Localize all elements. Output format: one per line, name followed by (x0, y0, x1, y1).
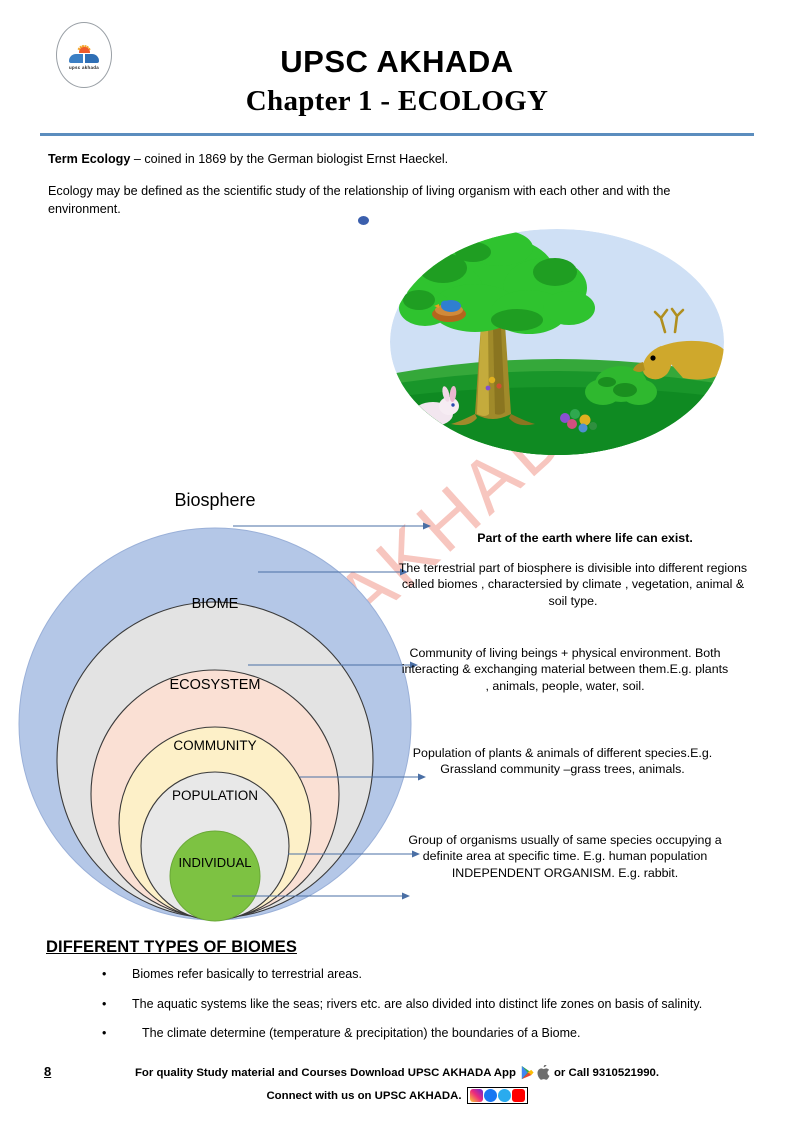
store-badges[interactable] (520, 1065, 550, 1080)
footer-line-1: For quality Study material and Courses D… (0, 1065, 794, 1080)
page-subtitle: Chapter 1 - ECOLOGY (0, 85, 794, 118)
footer-text-a: For quality Study material and Courses D… (135, 1067, 516, 1079)
list-item-text: The aquatic systems like the seas; river… (132, 997, 702, 1011)
instagram-icon[interactable] (470, 1089, 483, 1102)
list-item-text: Biomes refer basically to terrestrial ar… (132, 967, 362, 981)
book-icon (69, 54, 99, 63)
arrow-individual (232, 891, 412, 901)
callout-community: Population of plants & animals of differ… (410, 745, 715, 778)
bullet-icon: • (102, 966, 106, 983)
callout-ecosystem: Community of living beings + physical en… (400, 645, 730, 694)
social-links[interactable] (467, 1087, 528, 1104)
arrow-biome (258, 567, 410, 577)
label-population: POPULATION (172, 788, 258, 803)
footer-text-b: or Call 9310521990. (554, 1067, 659, 1079)
bullet-icon: • (102, 1025, 106, 1042)
list-item: • Biomes refer basically to terrestrial … (96, 966, 736, 983)
header-divider (40, 133, 754, 136)
term-label: Term Ecology (48, 152, 130, 166)
bullet-icon: • (102, 996, 106, 1013)
list-item: • The climate determine (temperature & p… (96, 1025, 736, 1042)
definition-paragraph: Ecology may be defined as the scientific… (48, 182, 738, 219)
list-item: • The aquatic systems like the seas; riv… (96, 996, 736, 1013)
logo-label: upsc akhada (69, 65, 99, 70)
apple-icon (537, 1065, 550, 1080)
telegram-icon[interactable] (498, 1089, 511, 1102)
label-community: COMMUNITY (173, 738, 256, 753)
label-biome: BIOME (192, 596, 239, 612)
term-paragraph: Term Ecology – coined in 1869 by the Ger… (48, 150, 738, 168)
footer-line-2: Connect with us on UPSC AKHADA. (0, 1087, 794, 1104)
upsc-akhada-logo: upsc akhada (56, 22, 112, 88)
arrow-biosphere (233, 521, 433, 531)
blue-dot-marker (358, 216, 369, 225)
list-item-text: The climate determine (temperature & pre… (142, 1026, 580, 1040)
sun-icon (71, 40, 97, 53)
ecosystem-illustration (389, 228, 725, 456)
ecology-levels-diagram: Biosphere BIOME ECOSYSTEM COMMUNITY POPU… (18, 478, 418, 930)
arrow-ecosystem (248, 660, 420, 670)
label-ecosystem: ECOSYSTEM (169, 677, 260, 693)
label-biosphere: Biosphere (174, 490, 255, 510)
google-play-icon (520, 1065, 535, 1080)
label-individual: INDIVIDUAL (179, 855, 252, 870)
section-title-biomes: DIFFERENT TYPES OF BIOMES (46, 938, 297, 957)
biomes-bullet-list: • Biomes refer basically to terrestrial … (96, 966, 736, 1055)
circle-individual (170, 831, 260, 921)
document-page: UPSC AKHADA upsc akhada UPSC AKHADA Chap… (0, 0, 794, 1123)
page-title: UPSC AKHADA (0, 44, 794, 80)
youtube-icon[interactable] (512, 1089, 525, 1102)
callout-biome: The terrestrial part of biosphere is div… (398, 560, 748, 609)
facebook-icon[interactable] (484, 1089, 497, 1102)
callout-biosphere: Part of the earth where life can exist. (425, 530, 745, 546)
arrow-community (300, 772, 428, 782)
term-rest: – coined in 1869 by the German biologist… (130, 152, 448, 166)
footer-connect-text: Connect with us on UPSC AKHADA. (266, 1090, 461, 1102)
callout-population: Group of organisms usually of same speci… (400, 832, 730, 881)
